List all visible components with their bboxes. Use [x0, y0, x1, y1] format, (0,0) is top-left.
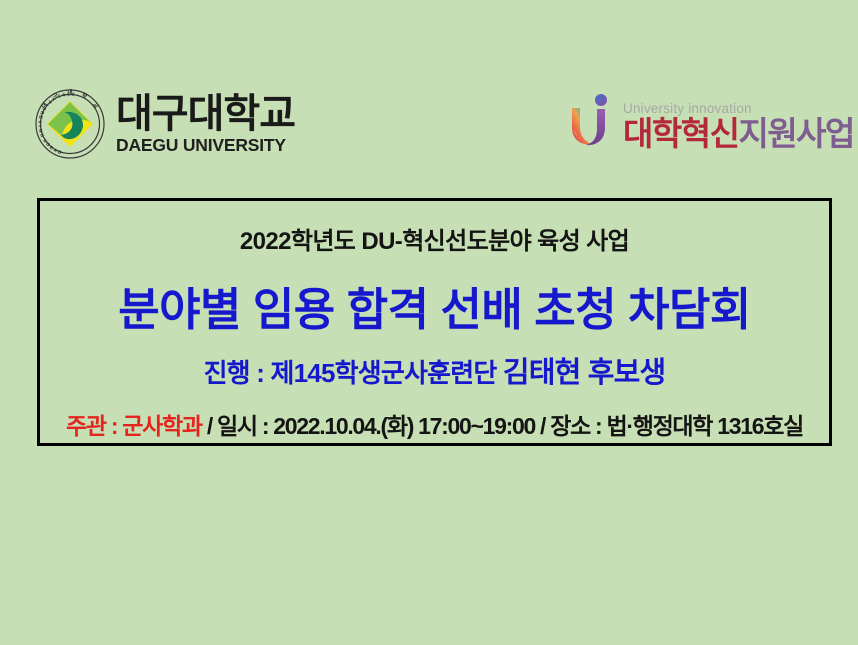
host-prefix: 진행 : 제145학생군사훈련단: [204, 358, 503, 388]
innovation-title-part1: 대학혁신: [623, 115, 738, 152]
details-separator-1: /: [202, 413, 217, 439]
logo-row: 대 구 대 학 교 D A E G U U N I: [0, 0, 858, 190]
svg-text:교: 교: [91, 101, 100, 109]
poster-canvas: 대 구 대 학 교 D A E G U U N I: [0, 0, 858, 645]
svg-text:E: E: [38, 115, 44, 119]
details-line: 주관 : 군사학과 / 일시 : 2022.10.04.(화) 17:00~19…: [40, 407, 829, 441]
university-name-en: DAEGU UNIVERSITY: [116, 137, 286, 155]
datetime-text: 일시 : 2022.10.04.(화) 17:00~19:00: [217, 413, 535, 439]
location-text: 장소 : 법·행정대학 1316호실: [550, 413, 803, 439]
daegu-university-seal-icon: 대 구 대 학 교 D A E G U U N I: [34, 88, 106, 160]
announcement-frame: 2022학년도 DU-혁신선도분야 육성 사업 분야별 임용 합격 선배 초청 …: [37, 198, 832, 446]
svg-text:9: 9: [62, 92, 66, 98]
host-name: 김태현 후보생: [503, 357, 666, 389]
innovation-title-part2: 지원사업: [738, 115, 853, 152]
university-name-ko: 대구대학교: [116, 94, 295, 135]
ui-swoosh-icon: [568, 92, 616, 152]
event-title: 분야별 임용 합격 선배 초청 차담회: [40, 273, 829, 338]
svg-text:U: U: [39, 133, 45, 139]
host-line: 진행 : 제145학생군사훈련단 김태현 후보생: [40, 349, 829, 391]
daegu-university-logo: 대 구 대 학 교 D A E G U U N I: [34, 88, 295, 160]
innovation-title: 대학혁신지원사업: [623, 117, 854, 150]
program-line: 2022학년도 DU-혁신선도분야 육성 사업: [40, 221, 829, 256]
daegu-university-wordmark: 대구대학교 DAEGU UNIVERSITY: [116, 94, 295, 154]
university-innovation-logo: University innovation 대학혁신지원사업: [568, 92, 854, 152]
innovation-subtitle: University innovation: [623, 102, 752, 116]
organizer-text: 주관 : 군사학과: [66, 413, 202, 439]
svg-text:I: I: [38, 125, 43, 127]
university-innovation-text: University innovation 대학혁신지원사업: [623, 102, 854, 153]
details-separator-2: /: [535, 413, 550, 439]
